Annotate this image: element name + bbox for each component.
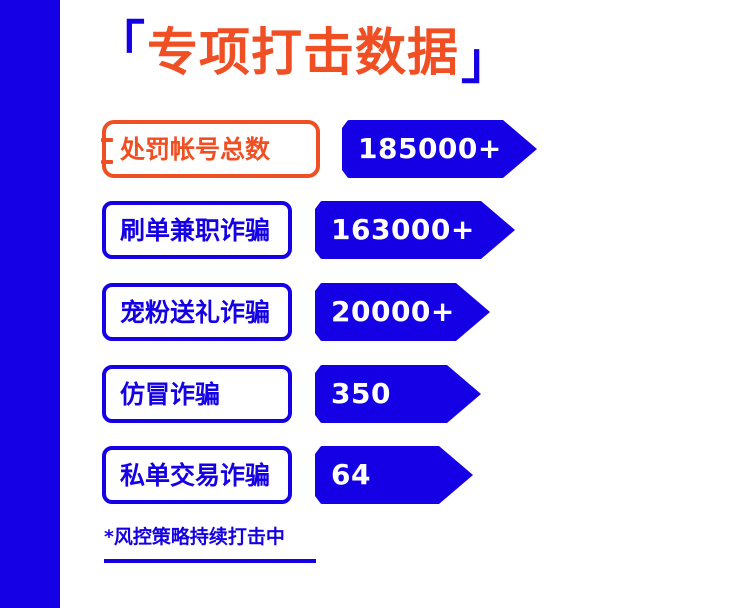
stat-label-box: 刷单兼职诈骗 — [102, 201, 292, 259]
stat-label-box: 仿冒诈骗 — [102, 365, 292, 423]
title-bracket-open-icon: 「 — [95, 20, 145, 70]
stat-label-text: 仿冒诈骗 — [120, 382, 220, 407]
page-title-text: 专项打击数据 — [147, 28, 459, 79]
stat-value-arrow: 163000+ — [315, 201, 515, 259]
stat-value-arrow: 20000+ — [315, 283, 490, 341]
title-bracket-close-icon: 」 — [461, 36, 511, 86]
stat-value-text: 163000+ — [331, 216, 475, 244]
footnote-text: *风控策略持续打击中 — [104, 528, 316, 547]
notch-mark-icon — [101, 138, 113, 142]
stat-value-text: 350 — [331, 380, 391, 408]
stat-label-text: 处罚帐号总数 — [120, 137, 270, 162]
stat-label-text: 私单交易诈骗 — [120, 463, 270, 488]
footnote: *风控策略持续打击中 — [104, 528, 316, 563]
stat-value-arrow: 185000+ — [342, 120, 537, 178]
page-title: 「 专项打击数据 」 — [95, 18, 511, 88]
stat-value-arrow: 350 — [315, 365, 481, 423]
stat-label-box: 宠粉送礼诈骗 — [102, 283, 292, 341]
notch-mark-icon — [101, 160, 113, 164]
stat-label-text: 刷单兼职诈骗 — [120, 218, 270, 243]
stat-label-box: 私单交易诈骗 — [102, 446, 292, 504]
stat-value-arrow: 64 — [315, 446, 473, 504]
stat-value-text: 20000+ — [331, 298, 455, 326]
stat-value-text: 64 — [331, 461, 371, 489]
stat-label-text: 宠粉送礼诈骗 — [120, 300, 270, 325]
stat-value-text: 185000+ — [358, 135, 502, 163]
brand-side-bar — [0, 0, 60, 608]
stat-label-box: 处罚帐号总数 — [102, 120, 320, 178]
infographic-canvas: 「 专项打击数据 」 处罚帐号总数 185000+ 刷单兼职诈骗 163000+… — [60, 0, 750, 608]
footnote-underline — [104, 559, 316, 563]
